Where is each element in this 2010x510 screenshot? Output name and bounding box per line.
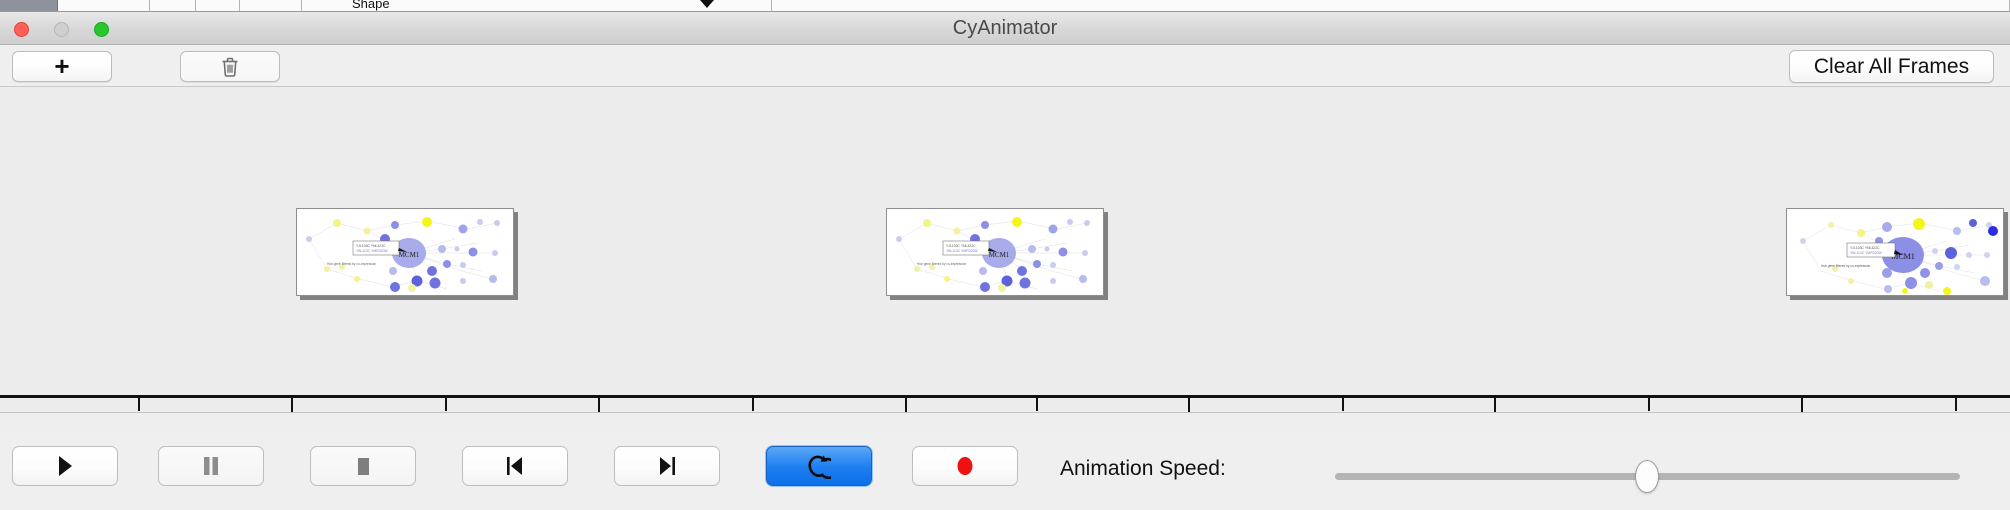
trash-icon (220, 56, 240, 78)
background-window-strip: Shape (0, 0, 2010, 12)
timeline-panel[interactable]: MCM1 (0, 87, 2010, 413)
tick-major-17 (1494, 398, 1496, 413)
svg-text:Hub gene filtered by co-expres: Hub gene filtered by co-expression (327, 262, 376, 266)
pause-icon (201, 454, 221, 478)
animation-speed-label: Animation Speed: (1060, 457, 1226, 481)
stop-icon (353, 454, 373, 478)
tick-minor-1 (138, 398, 140, 411)
animation-speed-slider-thumb[interactable] (1635, 460, 1659, 493)
delete-frame-button[interactable] (180, 51, 280, 82)
next-frame-button[interactable] (614, 446, 720, 486)
toolbar: + Clear All Frames (0, 45, 2010, 87)
svg-text:MCM1: MCM1 (399, 251, 420, 259)
play-icon (55, 454, 75, 478)
tick-minor-5 (1342, 398, 1344, 411)
background-window-label: Shape (352, 0, 390, 11)
play-button[interactable] (12, 446, 118, 486)
skip-forward-icon (655, 454, 679, 478)
clear-all-frames-label: Clear All Frames (1814, 55, 1969, 79)
keyframe-thumbnail-2[interactable]: MCM1 (886, 208, 1104, 296)
svg-text:YJL103C YNL322C: YJL103C YNL322C (946, 244, 976, 248)
background-caret-icon (700, 0, 714, 8)
svg-text:YBL113C YMR320W: YBL113C YMR320W (946, 249, 978, 253)
svg-text:Hub gene filtered by co-expres: Hub gene filtered by co-expression (917, 262, 966, 266)
tick-major-15 (905, 398, 907, 413)
skip-back-icon (503, 454, 527, 478)
record-button[interactable] (912, 446, 1018, 486)
svg-text:YJL103C YNL322C: YJL103C YNL322C (1850, 246, 1880, 250)
tick-minor-6 (1648, 398, 1650, 411)
background-tab-1 (0, 0, 58, 12)
svg-text:Hub gene filtered by co-expres: Hub gene filtered by co-expression (1821, 264, 1870, 268)
tick-minor-2 (445, 398, 447, 411)
tick-major-16 (1188, 398, 1190, 413)
tick-minor-3 (752, 398, 754, 411)
tick-minor-7 (1955, 398, 1957, 411)
background-tab-4 (196, 0, 240, 12)
pause-button[interactable] (158, 446, 264, 486)
svg-text:MCM1: MCM1 (989, 251, 1010, 259)
clear-all-frames-button[interactable]: Clear All Frames (1789, 50, 1994, 83)
background-tab-5 (240, 0, 302, 12)
background-tab-3 (150, 0, 196, 12)
title-bar[interactable]: CyAnimator (0, 12, 2010, 45)
tick-major-14 (598, 398, 600, 413)
loop-icon (807, 453, 831, 479)
tick-major-18 (1801, 398, 1803, 413)
svg-text:YBL113C YMR320W: YBL113C YMR320W (356, 249, 388, 253)
playback-bar: Animation Speed: (0, 431, 2010, 510)
stop-button[interactable] (310, 446, 416, 486)
timeline-axis-line (0, 395, 2010, 398)
background-tab-2 (58, 0, 150, 12)
background-tab-7 (772, 0, 2010, 12)
tick-major-13 (291, 398, 293, 413)
keyframe-thumbnail-1[interactable]: MCM1 (296, 208, 514, 296)
add-frame-button[interactable]: + (12, 51, 112, 82)
cyanimator-window: Shape CyAnimator + Clear All Frames (0, 0, 2010, 510)
tick-minor-4 (1036, 398, 1038, 411)
keyframe-thumbnail-3[interactable]: MCM1 (1786, 208, 2004, 296)
plus-icon: + (54, 56, 69, 77)
svg-text:YJL103C YNL322C: YJL103C YNL322C (356, 244, 386, 248)
page-title: CyAnimator (0, 12, 2010, 45)
record-icon (954, 453, 976, 479)
prev-frame-button[interactable] (462, 446, 568, 486)
loop-button[interactable] (766, 446, 872, 486)
svg-text:YBL113C YMR320W: YBL113C YMR320W (1850, 251, 1882, 255)
